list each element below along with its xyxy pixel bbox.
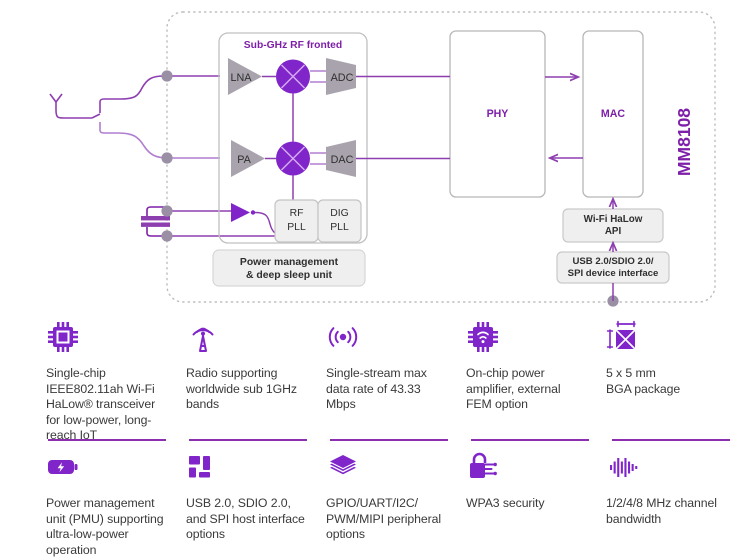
svg-text:Wi-Fi HaLow: Wi-Fi HaLow bbox=[584, 214, 643, 225]
feature-card-package: 5 x 5 mm BGA package bbox=[606, 320, 746, 444]
antenna-tower-icon bbox=[186, 320, 326, 358]
pa-block: PA bbox=[231, 140, 265, 177]
signal-waves-icon bbox=[326, 320, 466, 358]
chip-name-label: MM8108 bbox=[674, 108, 694, 176]
pad-xtal-1 bbox=[161, 205, 172, 216]
svg-text:PLL: PLL bbox=[287, 222, 306, 233]
feature-text: USB 2.0, SDIO 2.0, and SPI host interfac… bbox=[186, 496, 312, 543]
svg-text:LNA: LNA bbox=[230, 72, 252, 84]
feature-card-pmu: Power management unit (PMU) supporting u… bbox=[46, 450, 186, 558]
feature-row-2: Power management unit (PMU) supporting u… bbox=[46, 450, 746, 558]
antenna-icon bbox=[50, 94, 92, 118]
feature-card-single-chip: Single-chip IEEE802.11ah Wi-Fi HaLow® tr… bbox=[46, 320, 186, 444]
feature-grid: Single-chip IEEE802.11ah Wi-Fi HaLow® tr… bbox=[0, 312, 754, 552]
lna-block: LNA bbox=[228, 58, 262, 95]
feature-row-1: Single-chip IEEE802.11ah Wi-Fi HaLow® tr… bbox=[46, 320, 746, 444]
lock-security-icon bbox=[466, 450, 606, 488]
pad-tx bbox=[161, 152, 172, 163]
channel-bandwidth-icon bbox=[606, 450, 746, 488]
adc-block: ADC bbox=[326, 58, 356, 95]
package-dimensions-icon bbox=[606, 320, 746, 358]
clock-buffer-amp bbox=[231, 203, 255, 222]
host-interface-block: USB 2.0/SDIO 2.0/ SPI device interface bbox=[557, 252, 669, 283]
rf-frontend-title: Sub-GHz RF fronted bbox=[244, 40, 342, 51]
svg-text:DIG: DIG bbox=[330, 208, 348, 219]
modules-grid-icon bbox=[186, 450, 326, 488]
svg-text:RF: RF bbox=[290, 208, 304, 219]
svg-text:DAC: DAC bbox=[331, 154, 354, 166]
battery-bolt-icon bbox=[46, 450, 186, 488]
dac-block: DAC bbox=[326, 140, 356, 177]
svg-text:API: API bbox=[605, 226, 622, 237]
feature-text: 1/2/4/8 MHz channel bandwidth bbox=[606, 496, 732, 527]
feature-card-power-amp: On-chip power amplifier, external FEM op… bbox=[466, 320, 606, 444]
svg-text:ADC: ADC bbox=[331, 72, 354, 84]
feature-card-channel-bw: 1/2/4/8 MHz channel bandwidth bbox=[606, 450, 746, 558]
svg-text:PHY: PHY bbox=[487, 108, 509, 120]
feature-text: Single-chip IEEE802.11ah Wi-Fi HaLow® tr… bbox=[46, 366, 172, 444]
halow-api-block: Wi-Fi HaLow API bbox=[563, 209, 663, 242]
svg-text:USB 2.0/SDIO 2.0/: USB 2.0/SDIO 2.0/ bbox=[572, 256, 653, 267]
chip-icon bbox=[46, 320, 186, 358]
feature-card-host-interfaces: USB 2.0, SDIO 2.0, and SPI host interfac… bbox=[186, 450, 326, 558]
feature-card-security: WPA3 security bbox=[466, 450, 606, 558]
feature-text: 5 x 5 mm BGA package bbox=[606, 366, 732, 397]
feature-card-radio-bands: Radio supporting worldwide sub 1GHz band… bbox=[186, 320, 326, 444]
rf-switch bbox=[92, 99, 120, 118]
svg-text:PLL: PLL bbox=[330, 222, 349, 233]
feature-text: Radio supporting worldwide sub 1GHz band… bbox=[186, 366, 312, 413]
feature-text: Power management unit (PMU) supporting u… bbox=[46, 496, 172, 558]
rf-switch-lower bbox=[100, 122, 118, 133]
svg-text:Power management: Power management bbox=[240, 257, 339, 268]
feature-card-peripherals: GPIO/UART/I2C/ PWM/MIPI peripheral optio… bbox=[326, 450, 466, 558]
svg-text:SPI device interface: SPI device interface bbox=[568, 268, 659, 279]
block-diagram: Sub-GHz RF fronted LNA PA bbox=[0, 0, 754, 312]
chip-wifi-icon bbox=[466, 320, 606, 358]
tx-mixer-icon bbox=[276, 142, 310, 176]
mac-block: MAC bbox=[583, 31, 643, 197]
rx-mixer-icon bbox=[276, 60, 310, 94]
svg-text:MAC: MAC bbox=[601, 108, 625, 120]
pad-xtal-2 bbox=[161, 230, 172, 241]
feature-text: WPA3 security bbox=[466, 496, 592, 512]
feature-text: On-chip power amplifier, external FEM op… bbox=[466, 366, 592, 413]
feature-text: GPIO/UART/I2C/ PWM/MIPI peripheral optio… bbox=[326, 496, 452, 543]
power-management-block: Power management & deep sleep unit bbox=[213, 250, 365, 286]
feature-text: Single-stream max data rate of 43.33 Mbp… bbox=[326, 366, 452, 413]
svg-text:& deep sleep unit: & deep sleep unit bbox=[246, 270, 333, 281]
layers-stack-icon bbox=[326, 450, 466, 488]
pad-rx bbox=[161, 70, 172, 81]
phy-block: PHY bbox=[450, 31, 545, 197]
rf-pll-block: RF PLL bbox=[275, 200, 318, 242]
dig-pll-block: DIG PLL bbox=[318, 200, 361, 242]
svg-text:PA: PA bbox=[237, 154, 251, 166]
feature-card-data-rate: Single-stream max data rate of 43.33 Mbp… bbox=[326, 320, 466, 444]
